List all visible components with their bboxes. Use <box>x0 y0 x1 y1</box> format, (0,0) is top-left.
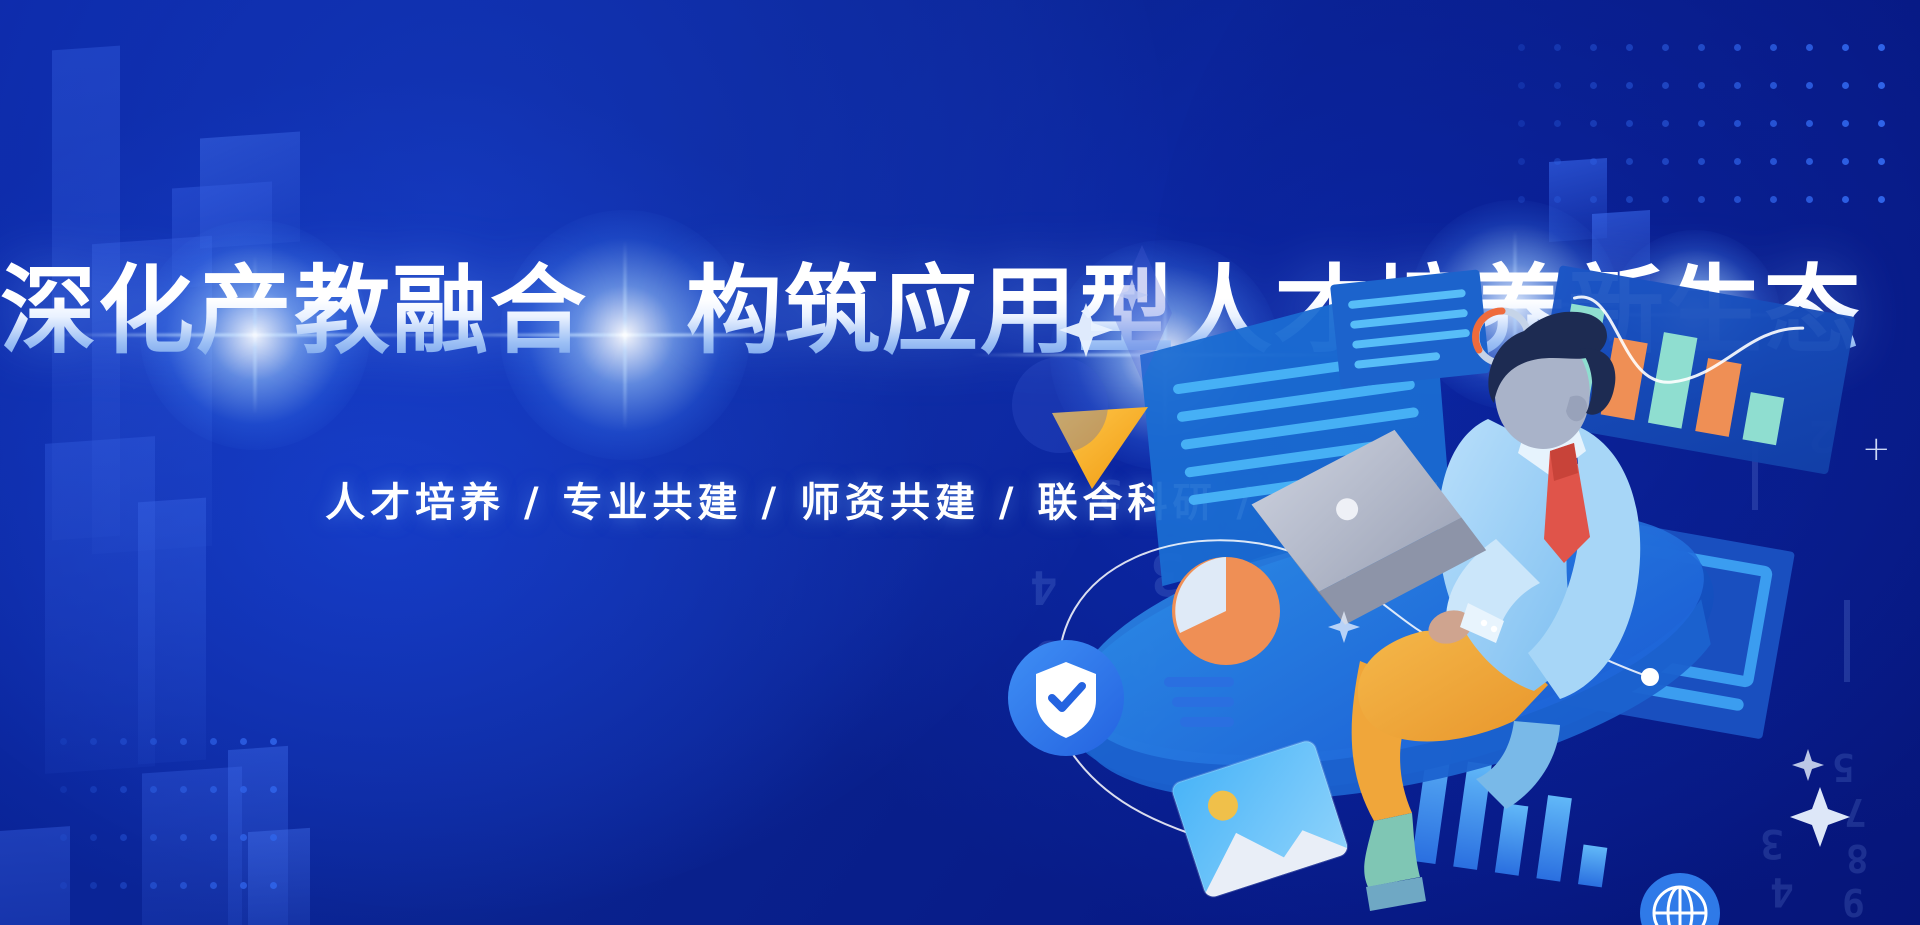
grid-dot <box>1554 120 1561 127</box>
grid-dot <box>1770 120 1777 127</box>
shield-check-icon <box>1008 640 1124 756</box>
grid-dot <box>1878 44 1885 51</box>
grid-dot <box>120 834 127 841</box>
grid-dot <box>1806 120 1813 127</box>
grid-dot <box>1626 120 1633 127</box>
globe-icon <box>1640 873 1720 925</box>
grid-dot <box>1770 44 1777 51</box>
grid-dot <box>1770 196 1777 203</box>
grid-dot <box>210 738 217 745</box>
sparkle-icon-1 <box>1059 303 1113 357</box>
grid-dot <box>1626 82 1633 89</box>
grid-dot <box>60 786 67 793</box>
grid-dot <box>1734 44 1741 51</box>
grid-dot <box>1662 44 1669 51</box>
grid-dot <box>90 834 97 841</box>
grid-dot <box>1806 196 1813 203</box>
grid-dot <box>1626 196 1633 203</box>
grid-dot <box>1518 120 1525 127</box>
grid-dot <box>1662 158 1669 165</box>
grid-dot <box>90 882 97 889</box>
sparkle-icon-4 <box>1792 749 1824 781</box>
grid-dot <box>1842 196 1849 203</box>
grid-dot <box>1806 82 1813 89</box>
grid-dot <box>1734 120 1741 127</box>
promo-banner: 3 0 2 3 4 5 1 3 2 8 2 5 7 8 9 3 4 深化产教融合… <box>0 0 1920 925</box>
grid-dot <box>1518 82 1525 89</box>
grid-dot <box>1590 82 1597 89</box>
connector-node <box>1641 668 1659 686</box>
grid-dot <box>1698 158 1705 165</box>
decor-circle <box>1012 357 1108 453</box>
grid-dot <box>1842 44 1849 51</box>
grid-dot <box>120 882 127 889</box>
grid-dot <box>1698 196 1705 203</box>
grid-dot <box>1662 82 1669 89</box>
grid-dot <box>1662 120 1669 127</box>
grid-dot <box>1554 82 1561 89</box>
grid-dot <box>1806 158 1813 165</box>
grid-dot <box>240 738 247 745</box>
grid-dot <box>1518 196 1525 203</box>
decor-shape-left-6 <box>142 767 242 925</box>
person-shoe-back <box>1364 813 1420 887</box>
sparkle-icon-3 <box>1790 787 1850 847</box>
grid-dot <box>1806 44 1813 51</box>
grid-dot <box>1734 82 1741 89</box>
grid-dot <box>270 738 277 745</box>
grid-dot <box>1698 120 1705 127</box>
grid-dot <box>1770 82 1777 89</box>
grid-dot <box>1842 158 1849 165</box>
grid-dot <box>1878 82 1885 89</box>
grid-dot <box>1698 44 1705 51</box>
illustration <box>1000 225 1920 925</box>
grid-dot <box>1518 44 1525 51</box>
grid-dot <box>1734 158 1741 165</box>
grid-dot <box>1626 158 1633 165</box>
grid-dot <box>1590 44 1597 51</box>
grid-dot <box>1842 120 1849 127</box>
grid-dot <box>1770 158 1777 165</box>
grid-dot <box>1590 120 1597 127</box>
grid-dot <box>1518 158 1525 165</box>
grid-dot <box>1878 158 1885 165</box>
document-small-icon <box>1330 269 1490 388</box>
grid-dot <box>1842 82 1849 89</box>
decor-shape-left-4 <box>138 498 206 765</box>
grid-dot <box>1662 196 1669 203</box>
grid-dot <box>1626 44 1633 51</box>
grid-dot <box>1698 82 1705 89</box>
grid-dot <box>90 786 97 793</box>
grid-dot <box>1554 44 1561 51</box>
grid-dot <box>120 786 127 793</box>
decor-shape-left-5 <box>0 826 70 925</box>
grid-dot <box>1878 120 1885 127</box>
grid-dot <box>1734 196 1741 203</box>
grid-dot <box>1878 196 1885 203</box>
decor-shape-bl-2 <box>248 828 310 925</box>
